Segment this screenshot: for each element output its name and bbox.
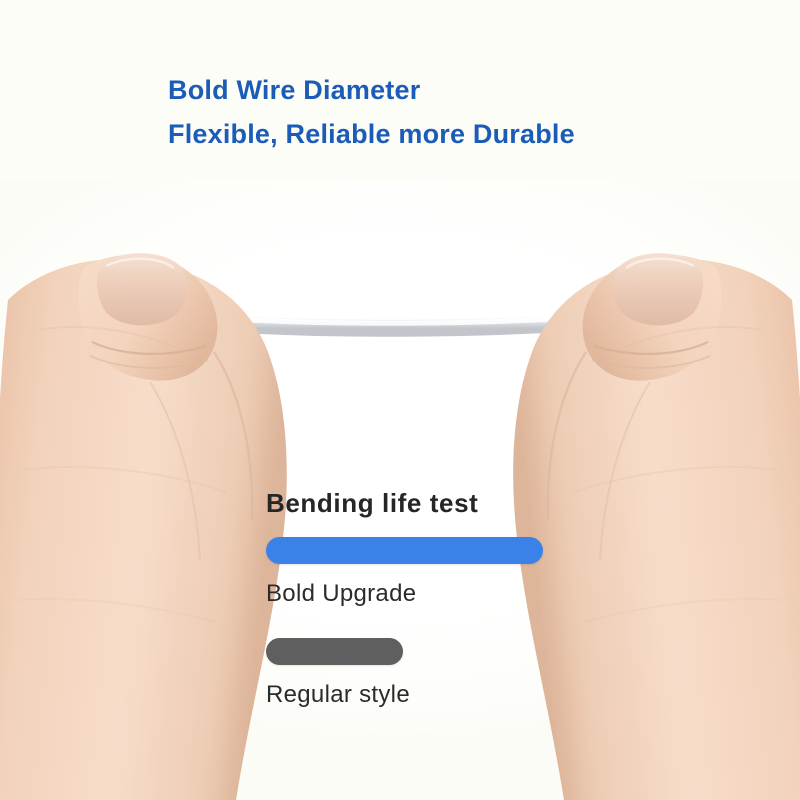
left-hand-gripping-cable	[0, 253, 287, 800]
bar-group-regular-style: Regular style	[266, 638, 566, 709]
bar-bold-upgrade	[266, 537, 543, 564]
product-marketing-image: Bold Wire Diameter Flexible, Reliable mo…	[0, 0, 800, 800]
bar-regular-style	[266, 638, 403, 665]
bar-label-bold-upgrade: Bold Upgrade	[266, 580, 566, 608]
bending-life-test-panel: Bending life test Bold Upgrade Regular s…	[266, 487, 566, 715]
panel-title: Bending life test	[266, 487, 566, 519]
bar-group-bold-upgrade: Bold Upgrade	[266, 537, 566, 608]
bar-label-regular-style: Regular style	[266, 681, 566, 709]
